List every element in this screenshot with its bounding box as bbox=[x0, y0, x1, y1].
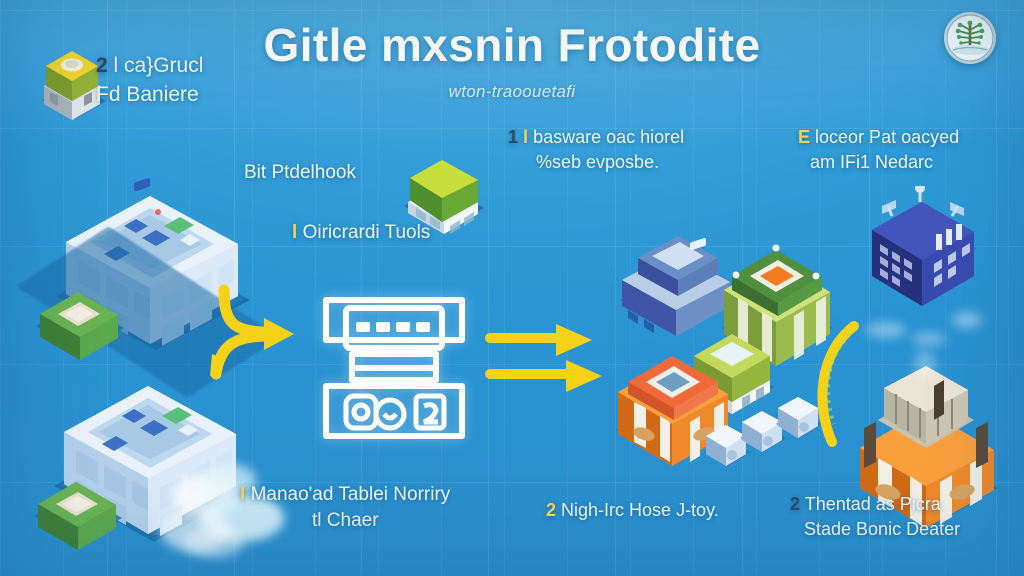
annotation-bottom-mid: 2 Nigh-Irc Hose J-toy. bbox=[546, 498, 796, 523]
annotation-bottom-right-line1: Thentad as Picra bbox=[805, 494, 941, 514]
yellow-merge-arrow bbox=[186, 288, 316, 378]
annotation-bottom-left: l Manao'ad Tablei Norriry tl Chaer bbox=[240, 482, 530, 534]
annotation-bottom-mid-num: 2 bbox=[546, 500, 556, 520]
annotation-right-top-tick: E bbox=[798, 127, 810, 147]
factory-bottom-left bbox=[34, 360, 284, 575]
annotation-center-top: 1 l basware oac hiorel %seb evposbe. bbox=[508, 125, 778, 175]
yellow-double-arrow bbox=[488, 322, 608, 394]
annotation-bottom-right-line2: Stade Bonic Deater bbox=[804, 517, 1024, 542]
infographic-poster: Gitle mxsnin Frotodite wton-traoouetafi … bbox=[0, 0, 1024, 576]
annotation-legend-line1: l ca}Grucl bbox=[114, 54, 204, 77]
annotation-tools-line1: Bit Ptdelhook bbox=[244, 162, 356, 183]
annotation-tools-tick: l bbox=[292, 222, 297, 243]
annotation-center-top-num: 1 bbox=[508, 127, 518, 147]
annotation-legend-line2: Fd Baniere bbox=[96, 81, 203, 110]
annotation-bottom-right-num: 2 bbox=[790, 494, 800, 514]
annotation-bottom-mid-line1: Nigh-Irc Hose J-toy. bbox=[561, 500, 719, 520]
annotation-center-top-line1: basware oac hiorel bbox=[533, 127, 684, 147]
annotation-tools-line2: Oiricrardi Tuols bbox=[303, 222, 431, 243]
annotation-right-top-line1: loceor Pat oacyed bbox=[815, 127, 959, 147]
annotation-legend-num: 2 bbox=[96, 54, 108, 77]
annotation-bottom-left-line1: Manao'ad Tablei Norriry bbox=[251, 484, 451, 505]
annotation-legend: 2 l ca}Grucl Fd Baniere bbox=[96, 52, 203, 110]
annotation-center-top-tick: l bbox=[523, 127, 528, 147]
navy-tower bbox=[862, 186, 986, 320]
annotation-tools: Bit Ptdelhook l Oiricrardi Tuols bbox=[244, 160, 524, 246]
industrial-machine-icon bbox=[312, 288, 476, 452]
annotation-right-top: E loceor Pat oacyed am IFi1 Nedarc bbox=[798, 125, 1024, 175]
annotation-bottom-left-tick: l bbox=[240, 484, 245, 505]
annotation-center-top-line2: %seb evposbe. bbox=[536, 150, 778, 175]
annotation-right-top-line2: am IFi1 Nedarc bbox=[810, 150, 1024, 175]
annotation-bottom-left-line2: tl Chaer bbox=[312, 508, 530, 534]
annotation-bottom-right: 2 Thentad as Picra Stade Bonic Deater bbox=[790, 492, 1024, 542]
